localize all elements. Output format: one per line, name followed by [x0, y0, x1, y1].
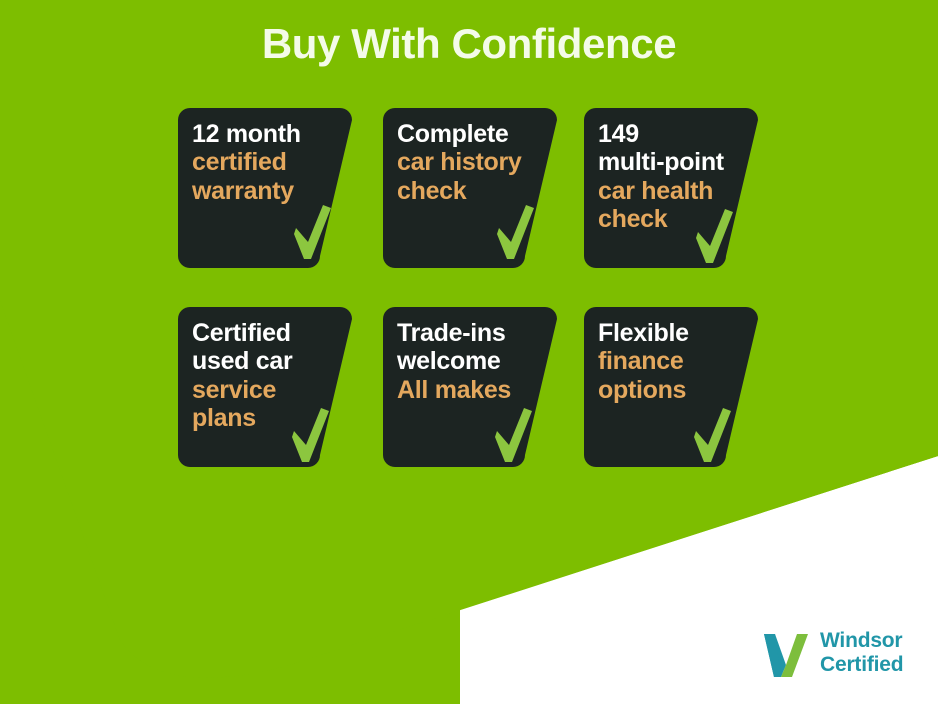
page-title: Buy With Confidence: [0, 20, 938, 68]
card-text-block: Trade-ins welcome All makes: [397, 319, 549, 404]
windsor-certified-logo[interactable]: Windsor Certified: [762, 628, 932, 686]
card-line: service: [192, 376, 344, 404]
card-line: car health: [598, 177, 750, 205]
card-line: Complete: [397, 120, 549, 148]
card-line: 12 month: [192, 120, 344, 148]
benefit-card-flexible-finance-options[interactable]: Flexible finance options: [584, 307, 758, 467]
card-line: All makes: [397, 376, 549, 404]
check-icon: [493, 204, 537, 260]
benefit-card-149-multi-point-car-health-check[interactable]: 149 multi-point car health check: [584, 108, 758, 268]
check-icon: [290, 204, 334, 260]
benefit-card-certified-used-car-service-plans[interactable]: Certified used car service plans: [178, 307, 352, 467]
logo-line-certified: Certified: [820, 653, 903, 677]
card-line: car history: [397, 148, 549, 176]
benefit-card-complete-car-history-check[interactable]: Complete car history check: [383, 108, 557, 268]
card-line: welcome: [397, 347, 549, 375]
poster-canvas: Buy With Confidence 12 month certified w…: [0, 0, 938, 704]
card-text-block: Complete car history check: [397, 120, 549, 205]
windsor-w-icon: [762, 632, 814, 678]
card-line: multi-point: [598, 148, 750, 176]
benefit-card-12-month-certified-warranty[interactable]: 12 month certified warranty: [178, 108, 352, 268]
card-line: check: [397, 177, 549, 205]
card-text-block: 12 month certified warranty: [192, 120, 344, 205]
benefit-card-row-2: Certified used car service plans Trade-i…: [178, 307, 758, 467]
check-icon: [288, 407, 332, 463]
benefit-card-grid: 12 month certified warranty Complete car…: [178, 108, 758, 467]
card-text-block: Flexible finance options: [598, 319, 750, 404]
logo-line-windsor: Windsor: [820, 629, 903, 653]
card-line: used car: [192, 347, 344, 375]
card-line: certified: [192, 148, 344, 176]
card-line: 149: [598, 120, 750, 148]
card-line: finance: [598, 347, 750, 375]
card-line: Trade-ins: [397, 319, 549, 347]
check-icon: [692, 208, 736, 264]
card-line: Certified: [192, 319, 344, 347]
card-line: Flexible: [598, 319, 750, 347]
benefit-card-row-1: 12 month certified warranty Complete car…: [178, 108, 758, 268]
check-icon: [690, 407, 734, 463]
logo-wordmark: Windsor Certified: [820, 629, 903, 678]
check-icon: [491, 407, 535, 463]
card-line: options: [598, 376, 750, 404]
card-line: warranty: [192, 177, 344, 205]
benefit-card-trade-ins-welcome-all-makes[interactable]: Trade-ins welcome All makes: [383, 307, 557, 467]
